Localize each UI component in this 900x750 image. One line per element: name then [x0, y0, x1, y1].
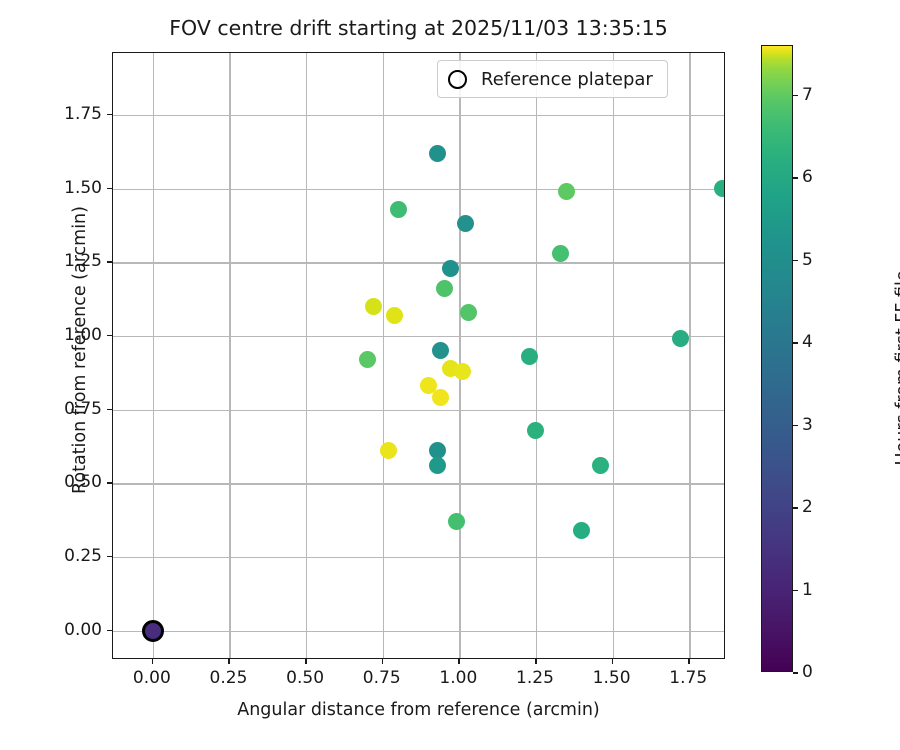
gridline-vertical [153, 53, 154, 658]
x-tick [382, 659, 384, 664]
x-tick [152, 659, 154, 664]
gridline-vertical [306, 53, 307, 658]
colorbar-ticklabel: 7 [802, 85, 813, 105]
y-ticklabel: 0.00 [2, 620, 102, 640]
colorbar-tick [793, 260, 798, 262]
y-tick [107, 482, 112, 484]
y-ticklabel: 1.75 [2, 104, 102, 124]
y-tick [107, 114, 112, 116]
scatter-point [457, 215, 474, 232]
y-axis-label: Rotation from reference (arcmin) [70, 150, 90, 550]
scatter-point [573, 522, 590, 539]
scatter-point [558, 183, 575, 200]
scatter-point [380, 442, 397, 459]
colorbar-ticklabel: 1 [802, 580, 813, 600]
y-tick [107, 261, 112, 263]
x-ticklabel: 1.50 [593, 668, 631, 688]
x-ticklabel: 0.00 [133, 668, 171, 688]
x-tick [688, 659, 690, 664]
scatter-point [454, 363, 471, 380]
y-tick [107, 409, 112, 411]
x-tick [535, 659, 537, 664]
colorbar-tick [793, 507, 798, 509]
figure: FOV centre drift starting at 2025/11/03 … [0, 0, 900, 750]
legend: Reference platepar [437, 60, 668, 98]
x-ticklabel: 0.75 [363, 668, 401, 688]
colorbar-tick [793, 95, 798, 97]
colorbar [761, 45, 793, 672]
colorbar-ticklabel: 6 [802, 167, 813, 187]
colorbar-ticklabel: 5 [802, 250, 813, 270]
colorbar-tick [793, 672, 798, 674]
scatter-point [448, 513, 465, 530]
colorbar-ticklabel: 4 [802, 332, 813, 352]
gridline-horizontal [113, 189, 724, 190]
gridline-vertical [383, 53, 384, 658]
colorbar-tick [793, 425, 798, 427]
gridline-horizontal [113, 115, 724, 116]
x-tick [612, 659, 614, 664]
gridline-horizontal [113, 483, 724, 484]
gridline-horizontal [113, 557, 724, 558]
x-tick [458, 659, 460, 664]
gridline-horizontal [113, 631, 724, 632]
scatter-point [365, 298, 382, 315]
x-ticklabel: 1.75 [669, 668, 707, 688]
colorbar-label: Hours from first FF file [893, 158, 900, 578]
x-tick [305, 659, 307, 664]
x-ticklabel: 1.00 [439, 668, 477, 688]
scatter-point [442, 260, 459, 277]
scatter-point [390, 201, 407, 218]
y-tick [107, 335, 112, 337]
scatter-point [714, 180, 725, 197]
x-ticklabel: 0.50 [286, 668, 324, 688]
legend-marker-open-circle-icon [448, 70, 467, 89]
legend-label: Reference platepar [481, 69, 653, 90]
scatter-point [460, 304, 477, 321]
scatter-point [592, 457, 609, 474]
x-tick [228, 659, 230, 664]
gridline-vertical [689, 53, 690, 658]
scatter-point [527, 422, 544, 439]
gridline-vertical [229, 53, 230, 658]
colorbar-ticklabel: 3 [802, 415, 813, 435]
scatter-point [432, 389, 449, 406]
scatter-point [429, 457, 446, 474]
colorbar-ticklabel: 2 [802, 497, 813, 517]
gridline-horizontal [113, 336, 724, 337]
x-axis-label: Angular distance from reference (arcmin) [112, 700, 725, 720]
colorbar-tick [793, 590, 798, 592]
gridline-vertical [613, 53, 614, 658]
gridline-horizontal [113, 262, 724, 263]
colorbar-tick [793, 342, 798, 344]
scatter-point [552, 245, 569, 262]
gridline-vertical [459, 53, 460, 658]
scatter-point [672, 330, 689, 347]
page-title: FOV centre drift starting at 2025/11/03 … [112, 16, 725, 40]
x-ticklabel: 1.25 [516, 668, 554, 688]
colorbar-ticklabel: 0 [802, 662, 813, 682]
scatter-point [432, 342, 449, 359]
scatter-point [386, 307, 403, 324]
x-ticklabel: 0.25 [210, 668, 248, 688]
y-tick [107, 556, 112, 558]
plot-area [112, 52, 725, 659]
scatter-point [359, 351, 376, 368]
scatter-point [429, 145, 446, 162]
scatter-point [436, 280, 453, 297]
y-tick [107, 188, 112, 190]
reference-platepar-point [142, 620, 164, 642]
colorbar-tick [793, 177, 798, 179]
y-tick [107, 630, 112, 632]
gridline-horizontal [113, 410, 724, 411]
